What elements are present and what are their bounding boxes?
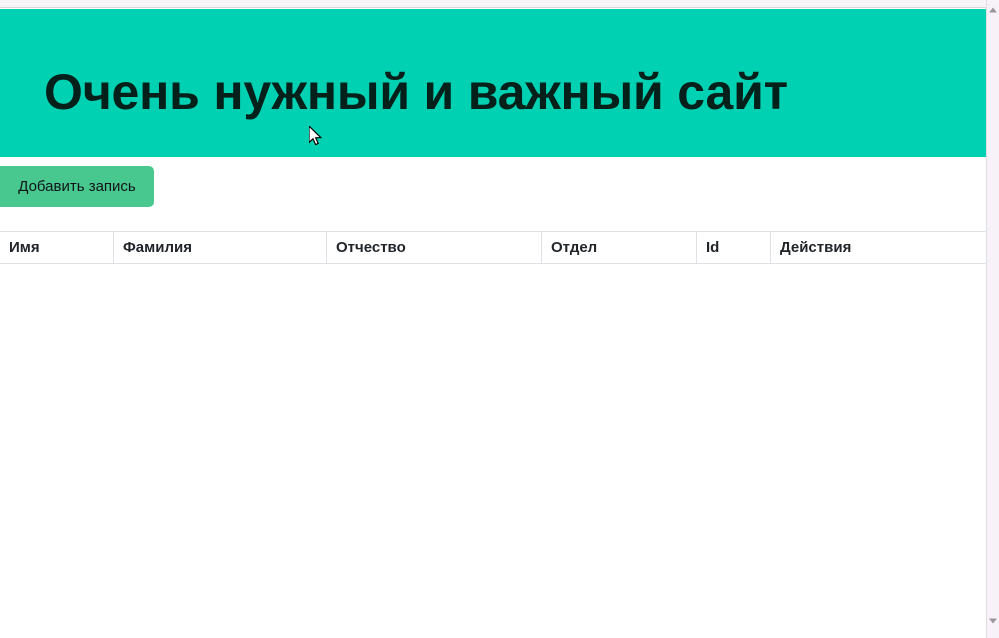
table-header-row: Имя Фамилия Отчество Отдел Id Действия [0, 232, 986, 264]
page-title: Очень нужный и важный сайт [44, 61, 788, 123]
column-header-department[interactable]: Отдел [542, 232, 697, 264]
scroll-down-arrow-icon[interactable] [987, 614, 999, 628]
triangle-down-icon [989, 619, 997, 624]
browser-viewport: Очень нужный и важный сайт Добавить запи… [0, 0, 986, 638]
column-header-name[interactable]: Имя [0, 232, 114, 264]
triangle-up-icon [989, 8, 997, 13]
column-header-id[interactable]: Id [697, 232, 771, 264]
add-record-button[interactable]: Добавить запись [0, 166, 154, 207]
vertical-scrollbar[interactable] [986, 0, 999, 638]
hero-banner: Очень нужный и важный сайт [0, 9, 986, 157]
records-table: Имя Фамилия Отчество Отдел Id Действия [0, 231, 986, 264]
column-header-surname[interactable]: Фамилия [114, 232, 327, 264]
table-head: Имя Фамилия Отчество Отдел Id Действия [0, 232, 986, 264]
scroll-up-arrow-icon[interactable] [987, 3, 999, 17]
page-top-strip [0, 0, 986, 8]
column-header-patronymic[interactable]: Отчество [327, 232, 542, 264]
column-header-actions[interactable]: Действия [771, 232, 987, 264]
